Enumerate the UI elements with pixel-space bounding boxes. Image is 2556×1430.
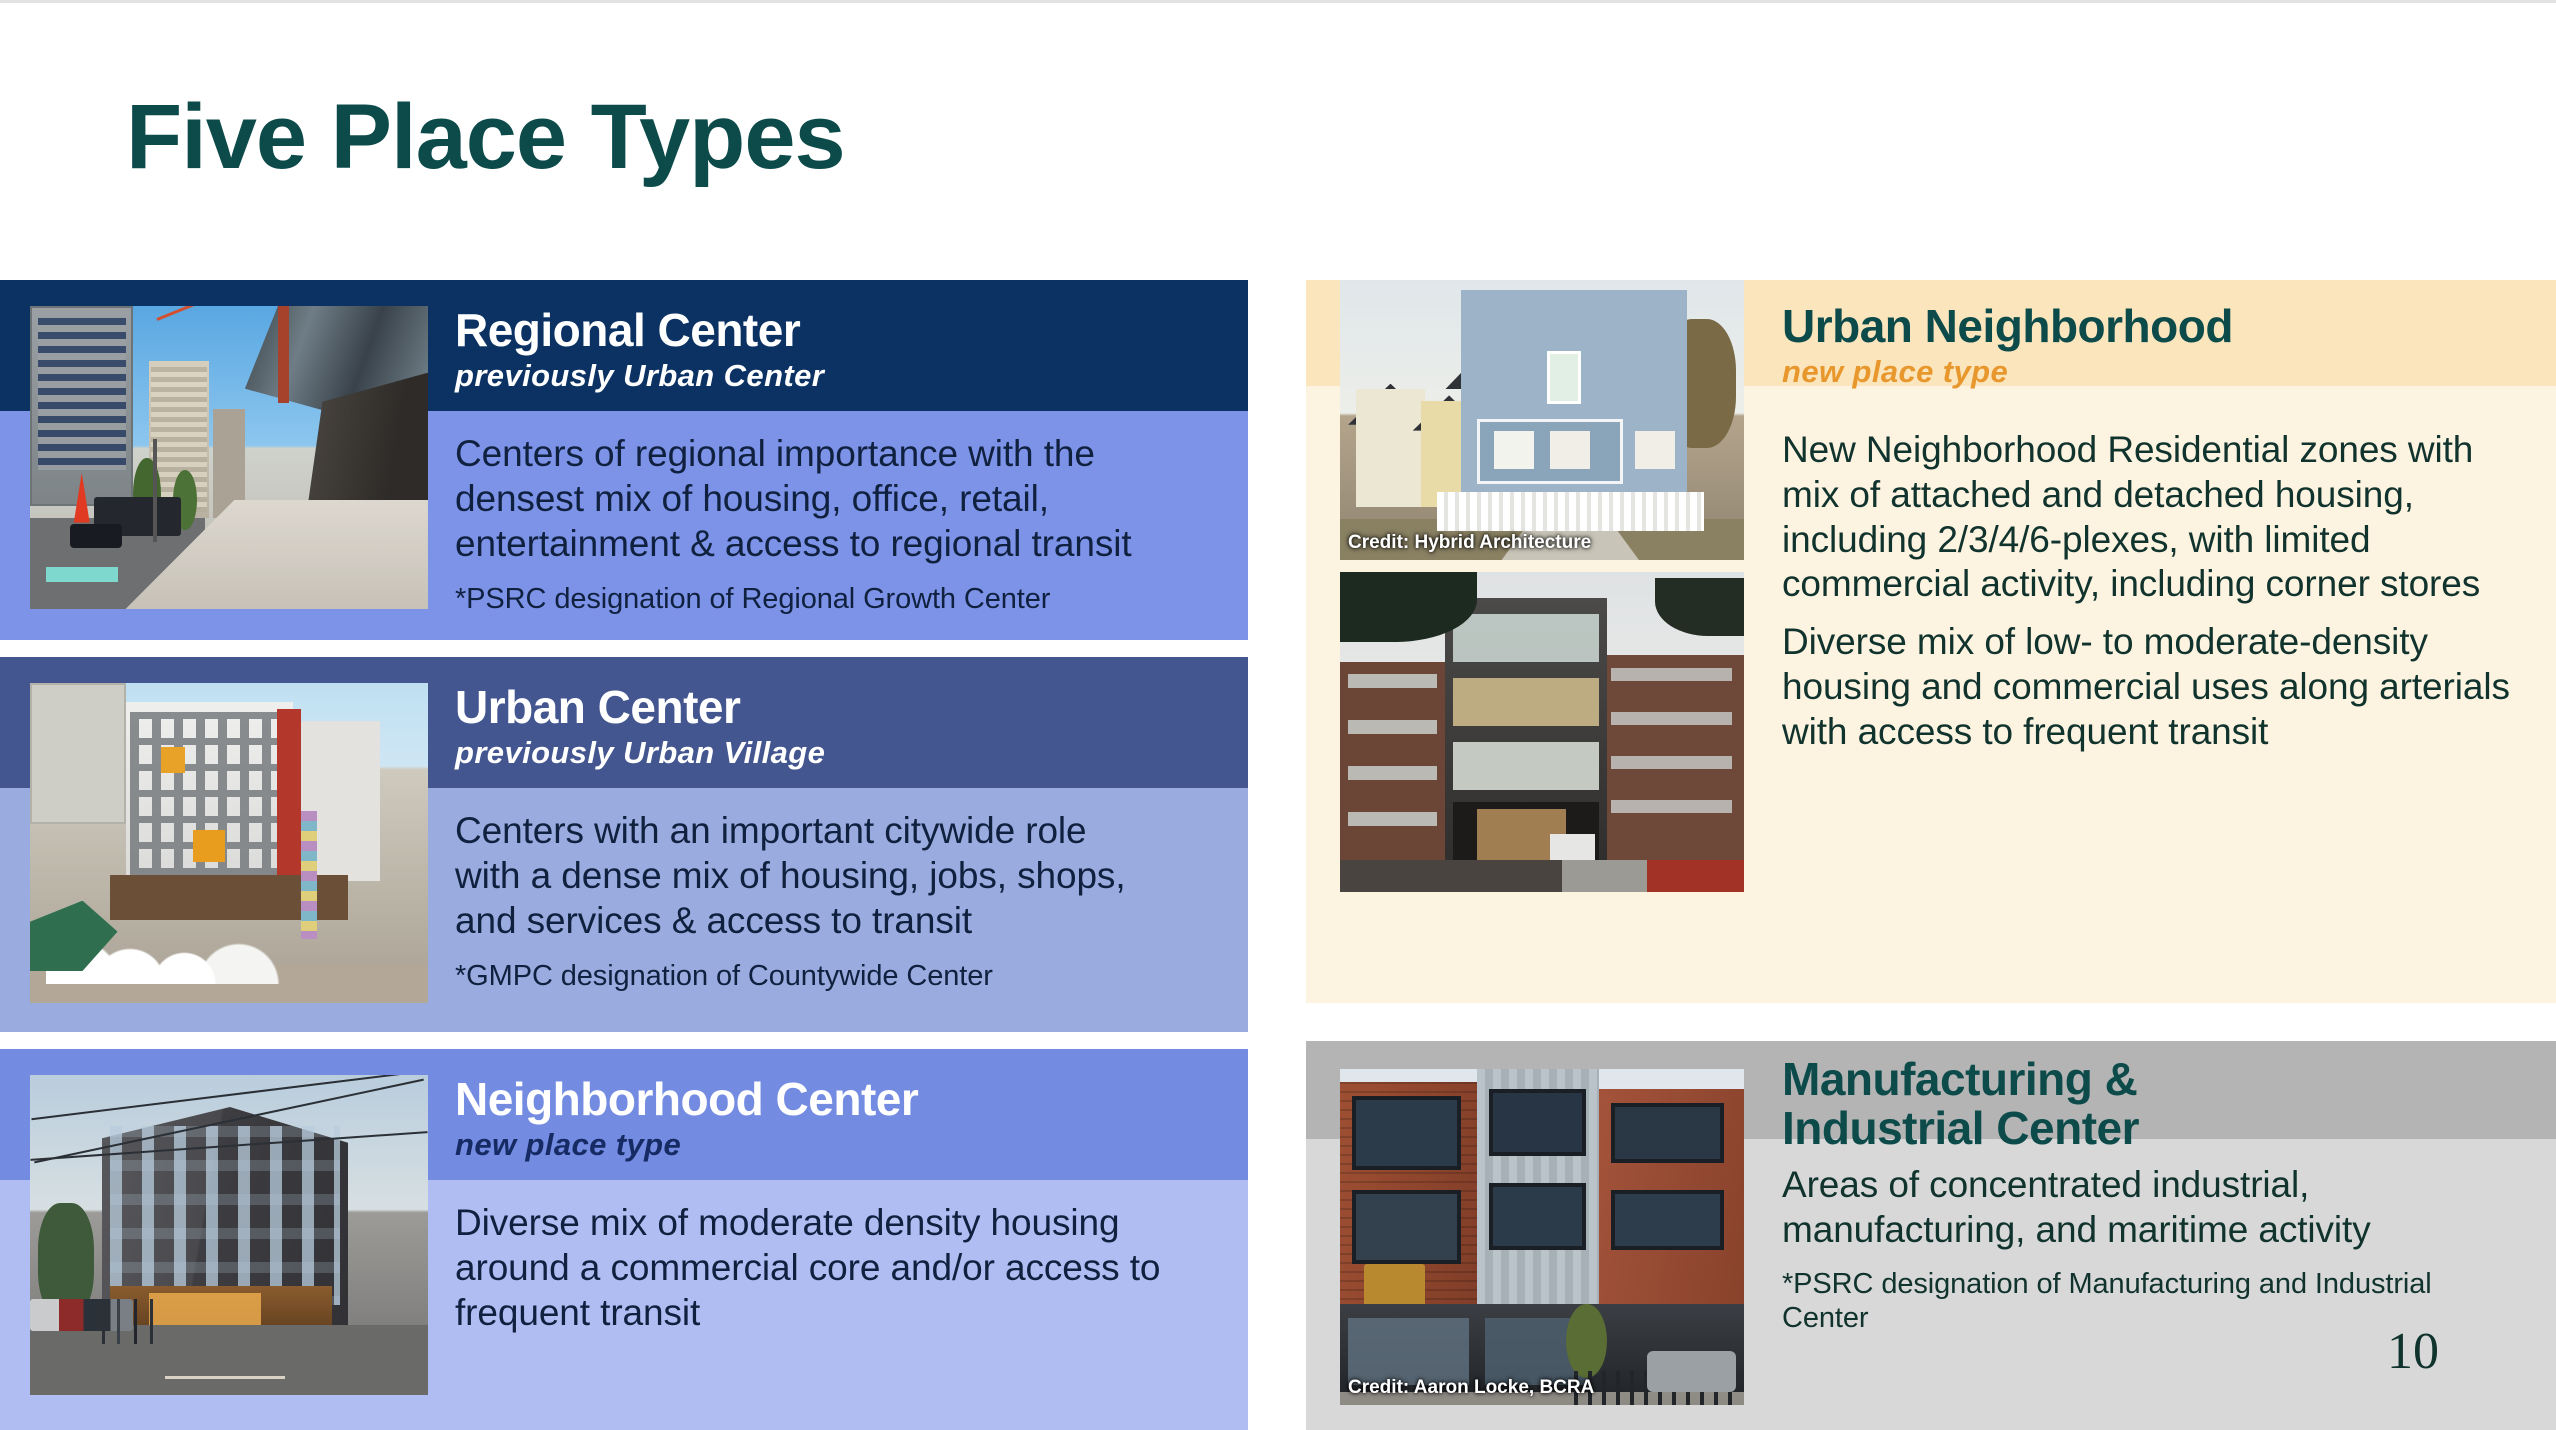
card-note: *PSRC designation of Regional Growth Cen… bbox=[455, 582, 1218, 617]
card-body-group: Centers with an important citywide role … bbox=[455, 809, 1218, 994]
photo-credit: Credit: Aaron Locke, BCRA bbox=[1348, 1378, 1594, 1399]
card-description-secondary: Diverse mix of low- to moderate-density … bbox=[1782, 620, 2536, 754]
card-title: Neighborhood Center bbox=[455, 1075, 1218, 1124]
photo-regional-center bbox=[30, 306, 428, 609]
card-neighborhood-center[interactable]: Neighborhood Center new place type Diver… bbox=[0, 1049, 1248, 1430]
card-heading-group: Urban Center previously Urban Village bbox=[455, 683, 1218, 770]
photo-urban-center bbox=[30, 683, 428, 1003]
card-heading-group: Neighborhood Center new place type bbox=[455, 1075, 1218, 1162]
card-description: Centers of regional importance with the … bbox=[455, 432, 1218, 566]
photo-neighborhood-center bbox=[30, 1075, 428, 1395]
card-heading-group: Regional Center previously Urban Center bbox=[455, 306, 1218, 393]
photo-urban-neighborhood-apartment bbox=[1340, 572, 1744, 892]
card-description: Centers with an important citywide role … bbox=[455, 809, 1155, 943]
card-note: *GMPC designation of Countywide Center bbox=[455, 959, 1218, 994]
card-subtitle: new place type bbox=[455, 1127, 1218, 1163]
card-title: Regional Center bbox=[455, 306, 1218, 355]
card-description-group-1: New Neighborhood Residential zones with … bbox=[1782, 428, 2536, 607]
card-description: Areas of concentrated industrial, manufa… bbox=[1782, 1163, 2422, 1253]
photo-credit: Credit: Hybrid Architecture bbox=[1348, 533, 1591, 554]
card-title-line-1: Manufacturing & bbox=[1782, 1055, 2516, 1104]
card-urban-neighborhood[interactable]: Credit: Hybrid Architecture Urban Neighb… bbox=[1306, 280, 2556, 1003]
card-body-group: Areas of concentrated industrial, manufa… bbox=[1782, 1163, 2536, 1336]
card-subtitle: new place type bbox=[1782, 354, 2516, 390]
card-description: Diverse mix of moderate density housing … bbox=[455, 1201, 1195, 1335]
photo-manufacturing-industrial-center: Credit: Aaron Locke, BCRA bbox=[1340, 1069, 1744, 1405]
card-note: *PSRC designation of Manufacturing and I… bbox=[1782, 1267, 2482, 1337]
photo-urban-neighborhood-houses: Credit: Hybrid Architecture bbox=[1340, 280, 1744, 560]
card-description: New Neighborhood Residential zones with … bbox=[1782, 428, 2536, 607]
page-title: Five Place Types bbox=[126, 91, 845, 183]
card-subtitle: previously Urban Center bbox=[455, 358, 1218, 394]
card-title: Urban Neighborhood bbox=[1782, 302, 2516, 351]
card-body-group: Centers of regional importance with the … bbox=[455, 432, 1218, 617]
card-regional-center[interactable]: Regional Center previously Urban Center … bbox=[0, 280, 1248, 640]
card-heading-group: Urban Neighborhood new place type bbox=[1782, 302, 2516, 389]
card-title: Urban Center bbox=[455, 683, 1218, 732]
card-title-line-2: Industrial Center bbox=[1782, 1104, 2516, 1153]
slide: Five Place Types Regional Center previou… bbox=[0, 0, 2556, 1430]
card-description-group-2: Diverse mix of low- to moderate-density … bbox=[1782, 620, 2536, 754]
card-body-group: Diverse mix of moderate density housing … bbox=[455, 1201, 1218, 1335]
card-manufacturing-industrial-center[interactable]: Credit: Aaron Locke, BCRA Manufacturing … bbox=[1306, 1041, 2556, 1430]
card-heading-group: Manufacturing & Industrial Center bbox=[1782, 1055, 2516, 1153]
card-urban-center[interactable]: Urban Center previously Urban Village Ce… bbox=[0, 657, 1248, 1032]
card-subtitle: previously Urban Village bbox=[455, 735, 1218, 771]
